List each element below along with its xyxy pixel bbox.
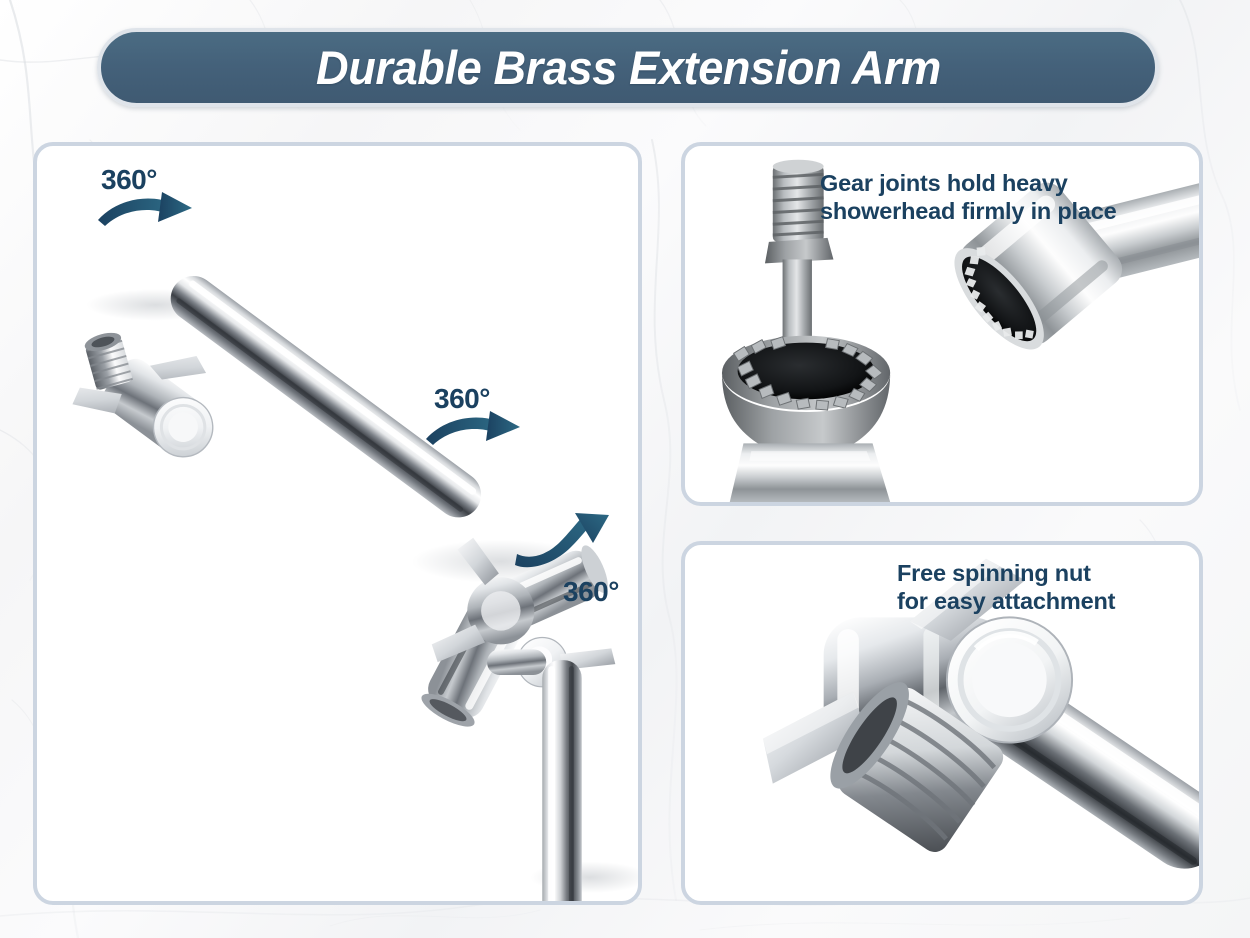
gear-panel-heading: Gear joints hold heavyshowerhead firmly … bbox=[820, 170, 1116, 225]
nut-heading-line-2: for easy attachment bbox=[897, 588, 1115, 614]
curved-arrow-right-icon bbox=[424, 411, 524, 451]
title-banner: Durable Brass Extension Arm bbox=[97, 28, 1159, 107]
nut-panel-heading: Free spinning nutfor easy attachment bbox=[897, 560, 1115, 615]
gear-heading-line-2: showerhead firmly in place bbox=[820, 198, 1116, 224]
page-title: Durable Brass Extension Arm bbox=[316, 40, 941, 95]
curved-arrow-right-icon bbox=[96, 192, 196, 232]
nut-heading-line-1: Free spinning nut bbox=[897, 560, 1091, 586]
curved-arrow-up-right-icon bbox=[513, 513, 613, 583]
gear-heading-line-1: Gear joints hold heavy bbox=[820, 170, 1068, 196]
infographic-canvas: Durable Brass Extension Arm bbox=[0, 0, 1250, 938]
